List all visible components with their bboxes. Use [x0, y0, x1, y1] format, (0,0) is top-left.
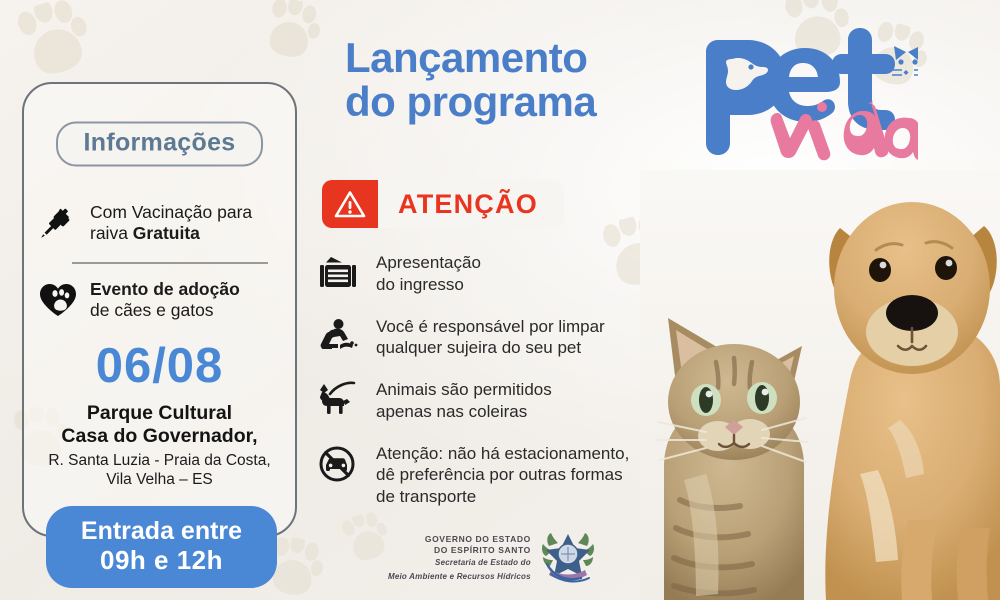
- attention-badge: ATENÇÃO: [322, 180, 564, 228]
- paw-print-decoration: [8, 0, 101, 89]
- venue-name: Parque Cultural Casa do Governador,: [24, 402, 295, 448]
- rule-leash-text: Animais são permitidos apenas nas coleir…: [376, 379, 552, 423]
- logo-letter-e: [768, 48, 840, 122]
- info-vaccination-text: Com Vacinação para raiva Gratuita: [90, 202, 252, 243]
- info-card-divider: [72, 262, 268, 264]
- rule-ticket-line1: Apresentação: [376, 253, 481, 272]
- address-line-2: Vila Velha – ES: [106, 471, 213, 488]
- dog-on-leash-icon: [318, 379, 360, 415]
- warning-triangle-icon: [322, 180, 378, 228]
- rule-cleanup-line1: Você é responsável por limpar: [376, 317, 605, 336]
- rule-no-parking-line1: Atenção: não há estacionamento,: [376, 444, 629, 463]
- rule-item-no-parking: Atenção: não há estacionamento, dê prefe…: [318, 443, 678, 508]
- information-card: Informações Com Vacinação par: [22, 82, 297, 537]
- rule-no-parking-text: Atenção: não há estacionamento, dê prefe…: [376, 443, 629, 508]
- rule-no-parking-line3: de transporte: [376, 487, 476, 506]
- entrance-hours: 09h e 12h: [46, 546, 277, 575]
- ticket-icon: [318, 252, 360, 292]
- government-logo: GOVERNO DO ESTADO DO ESPÍRITO SANTO Secr…: [388, 530, 595, 586]
- paw-print-decoration: [256, 0, 325, 68]
- entrance-time-button[interactable]: Entrada entre 09h e 12h: [46, 506, 277, 588]
- heart-paw-icon: [38, 282, 78, 318]
- venue-line-2: Casa do Governador,: [61, 425, 257, 447]
- rule-item-cleanup: Você é responsável por limpar qualquer s…: [318, 316, 678, 360]
- venue-line-1: Parque Cultural: [87, 402, 232, 424]
- rule-ticket-text: Apresentação do ingresso: [376, 252, 481, 296]
- address-line-1: R. Santa Luzia - Praia da Costa,: [48, 452, 270, 469]
- rule-no-parking-line2: dê preferência por outras formas: [376, 465, 623, 484]
- rules-list: Apresentação do ingresso: [318, 252, 678, 528]
- gov-line-2: DO ESPÍRITO SANTO: [388, 545, 531, 556]
- pet-vida-logo: [688, 26, 918, 166]
- info-vaccination-line1: Com Vacinação para: [90, 202, 252, 222]
- info-row-vaccination: Com Vacinação para raiva Gratuita: [38, 202, 288, 243]
- dog-figure: [825, 202, 1000, 600]
- no-parking-icon: [318, 443, 360, 483]
- cat-figure: [658, 318, 808, 600]
- info-vaccination-line2: raiva: [90, 223, 133, 243]
- info-adoption-line1: Evento de adoção: [90, 279, 240, 299]
- gov-line-1: GOVERNO DO ESTADO: [388, 534, 531, 545]
- syringe-icon: [38, 204, 78, 242]
- entrance-label: Entrada entre: [46, 518, 277, 546]
- info-adoption-line2: de cães e gatos: [90, 300, 214, 320]
- rule-leash-line2: apenas nas coleiras: [376, 402, 527, 421]
- rule-leash-line1: Animais são permitidos: [376, 380, 552, 399]
- info-vaccination-line2-bold: Gratuita: [133, 223, 200, 243]
- rule-cleanup-text: Você é responsável por limpar qualquer s…: [376, 316, 605, 360]
- cat-and-dog-photo: [640, 170, 1000, 600]
- espirito-santo-coat-of-arms-icon: [541, 530, 595, 586]
- rule-cleanup-line2: qualquer sujeira do seu pet: [376, 338, 581, 357]
- government-text: GOVERNO DO ESTADO DO ESPÍRITO SANTO Secr…: [388, 534, 531, 582]
- rule-ticket-line2: do ingresso: [376, 275, 464, 294]
- event-date: 06/08: [24, 342, 295, 391]
- clean-up-after-pet-icon: [318, 316, 360, 352]
- venue-address: R. Santa Luzia - Praia da Costa, Vila Ve…: [24, 452, 295, 490]
- info-adoption-text: Evento de adoção de cães e gatos: [90, 279, 240, 320]
- cat-face-icon: [892, 46, 918, 75]
- attention-label: ATENÇÃO: [398, 189, 538, 220]
- headline-line-1: Lançamento: [345, 36, 596, 80]
- rule-item-leash: Animais são permitidos apenas nas coleir…: [318, 379, 678, 423]
- info-row-adoption: Evento de adoção de cães e gatos: [38, 279, 288, 320]
- rule-item-ticket: Apresentação do ingresso: [318, 252, 678, 296]
- gov-line-4: Meio Ambiente e Recursos Hídricos: [388, 572, 531, 582]
- page-title: Lançamento do programa: [345, 36, 596, 123]
- gov-line-3: Secretaria de Estado do: [388, 558, 531, 568]
- information-card-title: Informações: [56, 122, 264, 167]
- headline-line-2: do programa: [345, 80, 596, 124]
- poster-canvas: Informações Com Vacinação par: [0, 0, 1000, 600]
